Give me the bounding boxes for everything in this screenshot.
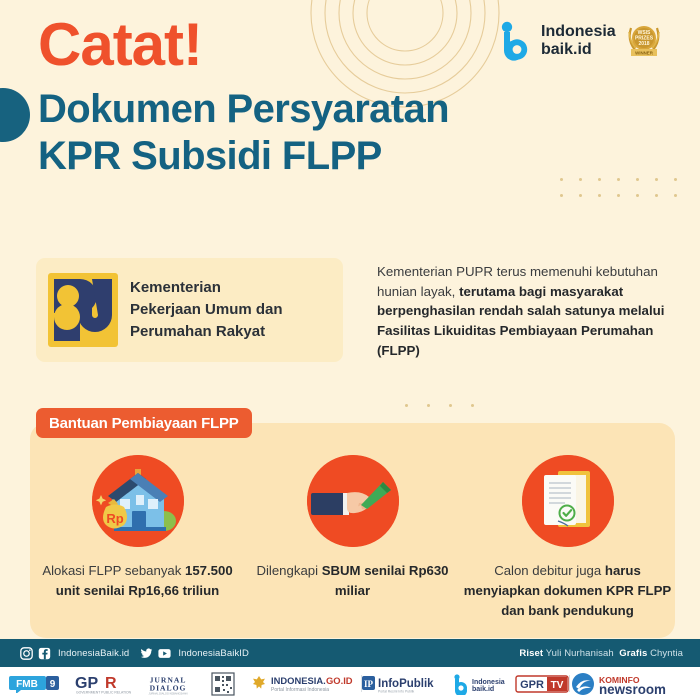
house-with-money-bag-icon: Rp [92,455,184,547]
blue-circle-decoration [0,88,30,142]
hand-holding-money-icon [307,455,399,547]
infopublik-logo: IP InfoPublik Portal Resmi Info Publik [361,673,449,695]
benefit-card-1-text: Alokasi FLPP sebanyak 157.500 unit senil… [30,561,245,601]
social-handle-2: IndonesiaBaikID [178,648,249,659]
card3-plain: Calon debitur juga [494,563,605,578]
wsis-prizes-2018-winner-badge: WSIS PRIZES 2018 WINNER [623,20,665,62]
jurnal-dialog-logo: JURNAL DIALOG JURNAL DIALOG KEBANGSAAN [139,673,197,695]
ib-logo-icon [498,21,534,61]
benefit-card-3-text: Calon debitur juga harus menyiapkan doku… [460,561,675,621]
page-title-line2: KPR Subsidi FLPP [38,134,658,179]
svg-text:TV: TV [551,680,564,691]
partner-indonesia-go-id[interactable]: INDONESIA. GO.ID Portal Informasi Indone… [247,667,361,700]
infographic-canvas: Catat! Dokumen Persyaratan KPR Subsidi F… [0,0,700,700]
credit-label-2: Grafis [619,648,647,659]
indonesiabaik-logo: Indonesia baik.id [449,673,515,695]
partner-logo-bar: FMB 9 GP R GOVERNMENT PUBLIC RELATION JU… [0,667,700,700]
social-footer: IndonesiaBaik.id IndonesiaBaikID Riset Y… [0,639,700,667]
svg-text:newsroom: newsroom [599,682,666,696]
youtube-icon[interactable] [158,647,171,660]
social-handles: IndonesiaBaik.id IndonesiaBaikID [20,647,255,660]
svg-text:2018: 2018 [638,41,649,47]
indonesia-go-id-logo: INDONESIA. GO.ID Portal Informasi Indone… [247,673,361,695]
svg-text:FMB: FMB [16,679,38,690]
kominfo-newsroom-logo: KOMINFO newsroom [570,672,700,696]
svg-text:GPR: GPR [520,679,544,691]
section-badge-label: Bantuan Pembiayaan FLPP [49,415,239,432]
benefit-cards: Rp Alokasi FLPP sebanyak 157.500 unit se… [30,455,675,621]
brand-name-line1: Indonesia [541,23,616,41]
ministry-name: Kementerian Pekerjaan Umum dan Perumahan… [130,277,283,344]
gpr-tv-logo: GPR TV [515,675,569,693]
card1-plain: Alokasi FLPP sebanyak [42,563,185,578]
credit-name-2: Chyntia [650,648,683,659]
credits: Riset Yuli Nurhanisah Grafis Chyntia [519,648,683,659]
partner-jurnal-dialog[interactable]: JURNAL DIALOG JURNAL DIALOG KEBANGSAAN [136,667,199,700]
benefit-card-2: Dilengkapi SBUM senilai Rp630 miliar [245,455,460,621]
benefit-card-3: Calon debitur juga harus menyiapkan doku… [460,455,675,621]
brand-name: Indonesia baik.id [541,23,616,59]
svg-text:WINNER: WINNER [635,50,654,55]
svg-text:Indonesia: Indonesia [472,679,505,686]
pu-ministry-logo-icon [48,273,118,347]
svg-text:JURNAL DIALOG KEBANGSAAN: JURNAL DIALOG KEBANGSAAN [148,691,187,695]
partner-indonesiabaik[interactable]: Indonesia baik.id [449,667,515,700]
brand-name-line2: baik.id [541,41,616,59]
documents-with-check-icon [522,455,614,547]
partner-kominfo-qr[interactable] [199,667,246,700]
partner-infopublik[interactable]: IP InfoPublik Portal Resmi Info Publik [361,667,449,700]
svg-text:IP: IP [364,679,374,689]
dot-grid-decoration-title [560,178,690,208]
section-badge: Bantuan Pembiayaan FLPP [36,408,252,438]
instagram-icon[interactable] [20,647,33,660]
partner-kominfo-newsroom[interactable]: KOMINFO newsroom [570,667,700,700]
svg-text:DIALOG: DIALOG [149,683,186,692]
ministry-line3: Perumahan Rakyat [130,321,283,343]
page-title-line1: Dokumen Persyaratan [38,87,658,132]
gpr-logo: GP R GOVERNMENT PUBLIC RELATION [73,673,133,695]
card2-bold: SBUM senilai Rp630 miliar [322,563,449,598]
ministry-line2: Pekerjaan Umum dan [130,299,283,321]
svg-text:Portal Informasi Indonesia: Portal Informasi Indonesia [271,687,329,693]
ministry-line1: Kementerian [130,277,283,299]
brand-logo[interactable]: Indonesia baik.id WSIS PRIZES 2018 WINNE… [498,20,665,62]
kominfo-qr-logo [211,672,235,696]
partner-fmb9[interactable]: FMB 9 [0,667,70,700]
svg-text:9: 9 [50,679,56,690]
benefit-card-2-text: Dilengkapi SBUM senilai Rp630 miliar [245,561,460,601]
svg-text:baik.id: baik.id [472,686,494,693]
facebook-icon[interactable] [38,647,51,660]
svg-text:INDONESIA.: INDONESIA. [271,675,326,686]
svg-text:GP: GP [75,675,98,692]
svg-text:GO.ID: GO.ID [326,675,353,686]
svg-text:InfoPublik: InfoPublik [378,678,434,690]
svg-text:GOVERNMENT PUBLIC RELATION: GOVERNMENT PUBLIC RELATION [76,690,132,694]
partner-gpr-tv[interactable]: GPR TV [515,667,569,700]
fmb9-logo: FMB 9 [8,674,62,693]
twitter-icon[interactable] [140,647,153,660]
ministry-card: Kementerian Pekerjaan Umum dan Perumahan… [36,258,343,362]
partner-gpr[interactable]: GP R GOVERNMENT PUBLIC RELATION [70,667,136,700]
intro-paragraph: Kementerian PUPR terus memenuhi kebutuha… [377,262,667,360]
credit-label-1: Riset [519,648,543,659]
benefit-card-1: Rp Alokasi FLPP sebanyak 157.500 unit se… [30,455,245,621]
svg-text:Rp: Rp [106,511,123,526]
credit-name-1: Yuli Nurhanisah [546,648,614,659]
social-handle-1: IndonesiaBaik.id [58,648,129,659]
card2-plain: Dilengkapi [256,563,321,578]
svg-text:Portal Resmi Info Publik: Portal Resmi Info Publik [378,689,414,693]
svg-text:R: R [105,675,117,692]
